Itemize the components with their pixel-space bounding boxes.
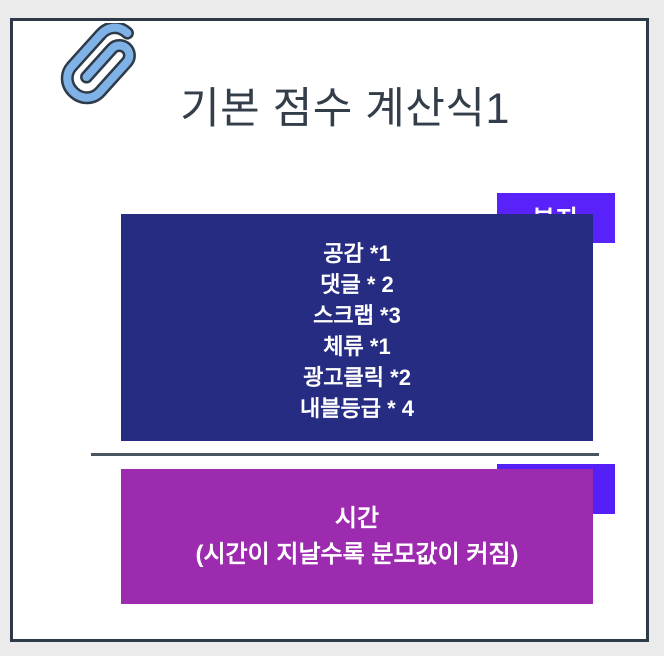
denominator-box: 시간 (시간이 지날수록 분모값이 커짐): [121, 469, 593, 604]
numerator-term: 내블등급 * 4: [300, 393, 414, 424]
numerator-term: 스크랩 *3: [313, 300, 401, 331]
numerator-term: 댓글 * 2: [320, 269, 394, 300]
numerator-term: 체류 *1: [323, 331, 390, 362]
denominator-line: 시간: [335, 501, 379, 537]
numerator-term: 공감 *1: [323, 238, 390, 269]
numerator-term: 광고클릭 *2: [303, 362, 411, 393]
numerator-box: 공감 *1 댓글 * 2 스크랩 *3 체류 *1 광고클릭 *2 내블등급 *…: [121, 214, 593, 441]
fraction-divider: [91, 453, 599, 456]
slide-frame: 기본 점수 계산식1 분자 공감 *1 댓글 * 2 스크랩 *3 체류 *1 …: [10, 18, 649, 642]
denominator-line: (시간이 지날수록 분모값이 커짐): [195, 537, 518, 573]
page-title: 기본 점수 계산식1: [13, 83, 664, 135]
